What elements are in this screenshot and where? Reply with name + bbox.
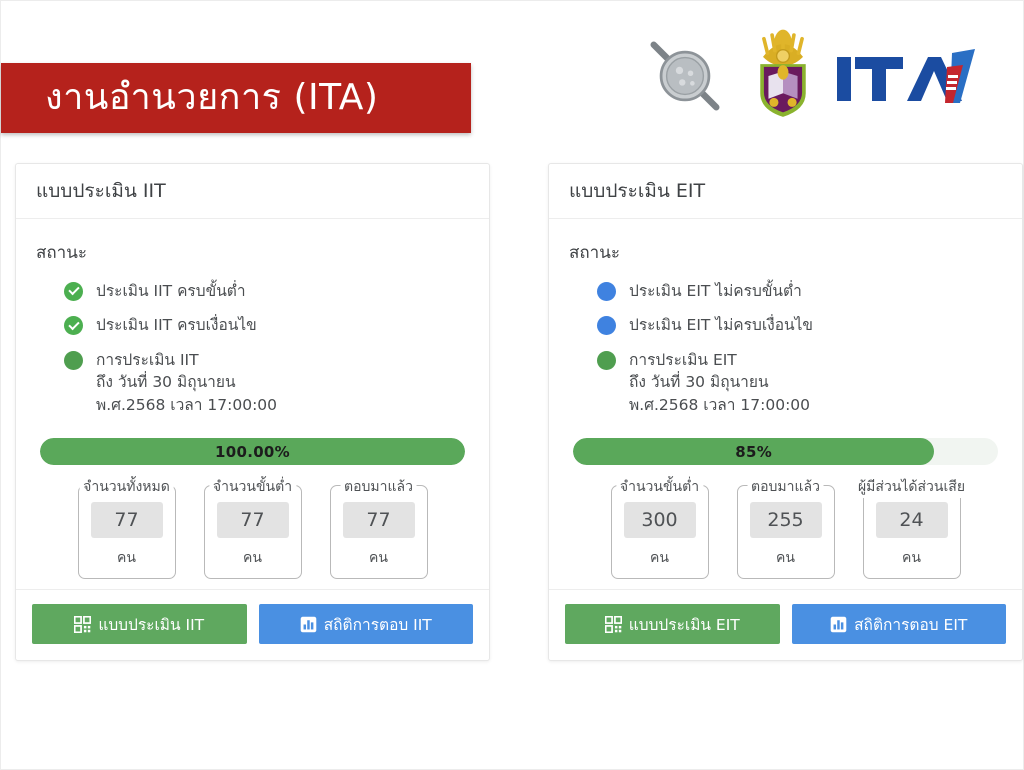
- stat-box: จำนวนทั้งหมด 77 คน: [78, 485, 176, 579]
- card-body-iit: สถานะ ประเมิน IIT ครบขั้นต่ำ ประเมิน IIT…: [16, 219, 489, 589]
- button-label: สถิติการตอบ EIT: [854, 612, 967, 637]
- status-item-label: ประเมิน IIT ครบเงื่อนไข: [96, 314, 257, 336]
- stats-row-iit: จำนวนทั้งหมด 77 คน จำนวนขั้นต่ำ 77 คน ตอ…: [36, 485, 469, 579]
- blue-dot-icon: [597, 282, 616, 301]
- stat-value: 255: [750, 502, 822, 538]
- card-header-iit: แบบประเมิน IIT: [16, 164, 489, 219]
- page-root: งานอำนวยการ (ITA): [0, 0, 1024, 770]
- stat-box: ตอบมาแล้ว 77 คน: [330, 485, 428, 579]
- status-item-label: ประเมิน EIT ไม่ครบเงื่อนไข: [629, 314, 813, 336]
- stat-legend: ตอบมาแล้ว: [340, 476, 417, 498]
- stat-unit: คน: [117, 547, 136, 569]
- progress-bar-label: 85%: [573, 438, 934, 465]
- bar-chart-icon: [300, 616, 317, 633]
- button-label: แบบประเมิน EIT: [629, 612, 740, 637]
- status-item: การประเมิน IIT ถึง วันที่ 30 มิถุนายน พ.…: [64, 349, 469, 416]
- card-title-eit: แบบประเมิน EIT: [569, 180, 1002, 203]
- status-item-label: ประเมิน IIT ครบขั้นต่ำ: [96, 280, 246, 302]
- stat-unit: คน: [776, 547, 795, 569]
- open-form-button-iit[interactable]: แบบประเมิน IIT: [32, 604, 247, 644]
- card-footer-iit: แบบประเมิน IIT สถิติการตอบ IIT: [16, 589, 489, 660]
- status-item-label: การประเมิน IIT ถึง วันที่ 30 มิถุนายน พ.…: [96, 349, 277, 416]
- stat-legend: ผู้มีส่วนได้ส่วนเสีย: [854, 476, 969, 498]
- stat-value: 300: [624, 502, 696, 538]
- status-item: ประเมิน IIT ครบขั้นต่ำ: [64, 280, 469, 302]
- assessment-card-iit: แบบประเมิน IIT สถานะ ประเมิน IIT ครบขั้น…: [15, 163, 490, 661]
- card-body-eit: สถานะ ประเมิน EIT ไม่ครบขั้นต่ำ ประเมิน …: [549, 219, 1022, 589]
- status-item: ประเมิน EIT ไม่ครบขั้นต่ำ: [597, 280, 1002, 302]
- stat-legend: จำนวนขั้นต่ำ: [616, 476, 703, 498]
- status-list-eit: ประเมิน EIT ไม่ครบขั้นต่ำ ประเมิน EIT ไม…: [569, 280, 1002, 416]
- stat-unit: คน: [902, 547, 921, 569]
- stats-row-eit: จำนวนขั้นต่ำ 300 คน ตอบมาแล้ว 255 คน ผู้…: [569, 485, 1002, 579]
- stat-box: จำนวนขั้นต่ำ 300 คน: [611, 485, 709, 579]
- progress-bar-eit: 85%: [573, 438, 998, 465]
- stat-value: 77: [343, 502, 415, 538]
- page-title: งานอำนวยการ (ITA): [45, 80, 378, 116]
- page-title-banner: งานอำนวยการ (ITA): [1, 63, 471, 133]
- progress-bar-label: 100.00%: [40, 438, 465, 465]
- stat-box: ผู้มีส่วนได้ส่วนเสีย 24 คน: [863, 485, 961, 579]
- green-dot-icon: [64, 351, 83, 370]
- stat-legend: จำนวนขั้นต่ำ: [209, 476, 296, 498]
- assessment-cards-container: แบบประเมิน IIT สถานะ ประเมิน IIT ครบขั้น…: [15, 163, 1023, 661]
- page-header: งานอำนวยการ (ITA): [1, 1, 1023, 151]
- stat-box: ตอบมาแล้ว 255 คน: [737, 485, 835, 579]
- status-item-label: ประเมิน EIT ไม่ครบขั้นต่ำ: [629, 280, 802, 302]
- silver-seal-logo: [639, 30, 731, 122]
- progress-bar-iit: 100.00%: [40, 438, 465, 465]
- statistics-button-iit[interactable]: สถิติการตอบ IIT: [259, 604, 474, 644]
- stat-box: จำนวนขั้นต่ำ 77 คน: [204, 485, 302, 579]
- stat-value: 77: [217, 502, 289, 538]
- assessment-card-eit: แบบประเมิน EIT สถานะ ประเมิน EIT ไม่ครบข…: [548, 163, 1023, 661]
- button-label: แบบประเมิน IIT: [98, 612, 204, 637]
- card-header-eit: แบบประเมิน EIT: [549, 164, 1022, 219]
- card-title-iit: แบบประเมิน IIT: [36, 180, 469, 203]
- statistics-button-eit[interactable]: สถิติการตอบ EIT: [792, 604, 1007, 644]
- green-check-circle-icon: [64, 282, 83, 301]
- green-dot-icon: [597, 351, 616, 370]
- stat-value: 24: [876, 502, 948, 538]
- qr-code-icon: [74, 616, 91, 633]
- stat-unit: คน: [369, 547, 388, 569]
- qr-code-icon: [605, 616, 622, 633]
- status-item-label: การประเมิน EIT ถึง วันที่ 30 มิถุนายน พ.…: [629, 349, 810, 416]
- status-label-iit: สถานะ: [36, 239, 469, 266]
- status-label-eit: สถานะ: [569, 239, 1002, 266]
- thai-government-crest-logo: [737, 26, 829, 126]
- stat-legend: ตอบมาแล้ว: [747, 476, 824, 498]
- green-check-circle-icon: [64, 316, 83, 335]
- status-list-iit: ประเมิน IIT ครบขั้นต่ำ ประเมิน IIT ครบเง…: [36, 280, 469, 416]
- status-item: ประเมิน IIT ครบเงื่อนไข: [64, 314, 469, 336]
- bar-chart-icon: [830, 616, 847, 633]
- ita-wordmark-logo: [835, 43, 985, 109]
- blue-dot-icon: [597, 316, 616, 335]
- stat-unit: คน: [650, 547, 669, 569]
- stat-value: 77: [91, 502, 163, 538]
- logo-group: [639, 23, 985, 128]
- button-label: สถิติการตอบ IIT: [324, 612, 432, 637]
- status-item: ประเมิน EIT ไม่ครบเงื่อนไข: [597, 314, 1002, 336]
- stat-unit: คน: [243, 547, 262, 569]
- status-item: การประเมิน EIT ถึง วันที่ 30 มิถุนายน พ.…: [597, 349, 1002, 416]
- stat-legend: จำนวนทั้งหมด: [79, 476, 174, 498]
- open-form-button-eit[interactable]: แบบประเมิน EIT: [565, 604, 780, 644]
- card-footer-eit: แบบประเมิน EIT สถิติการตอบ EIT: [549, 589, 1022, 660]
